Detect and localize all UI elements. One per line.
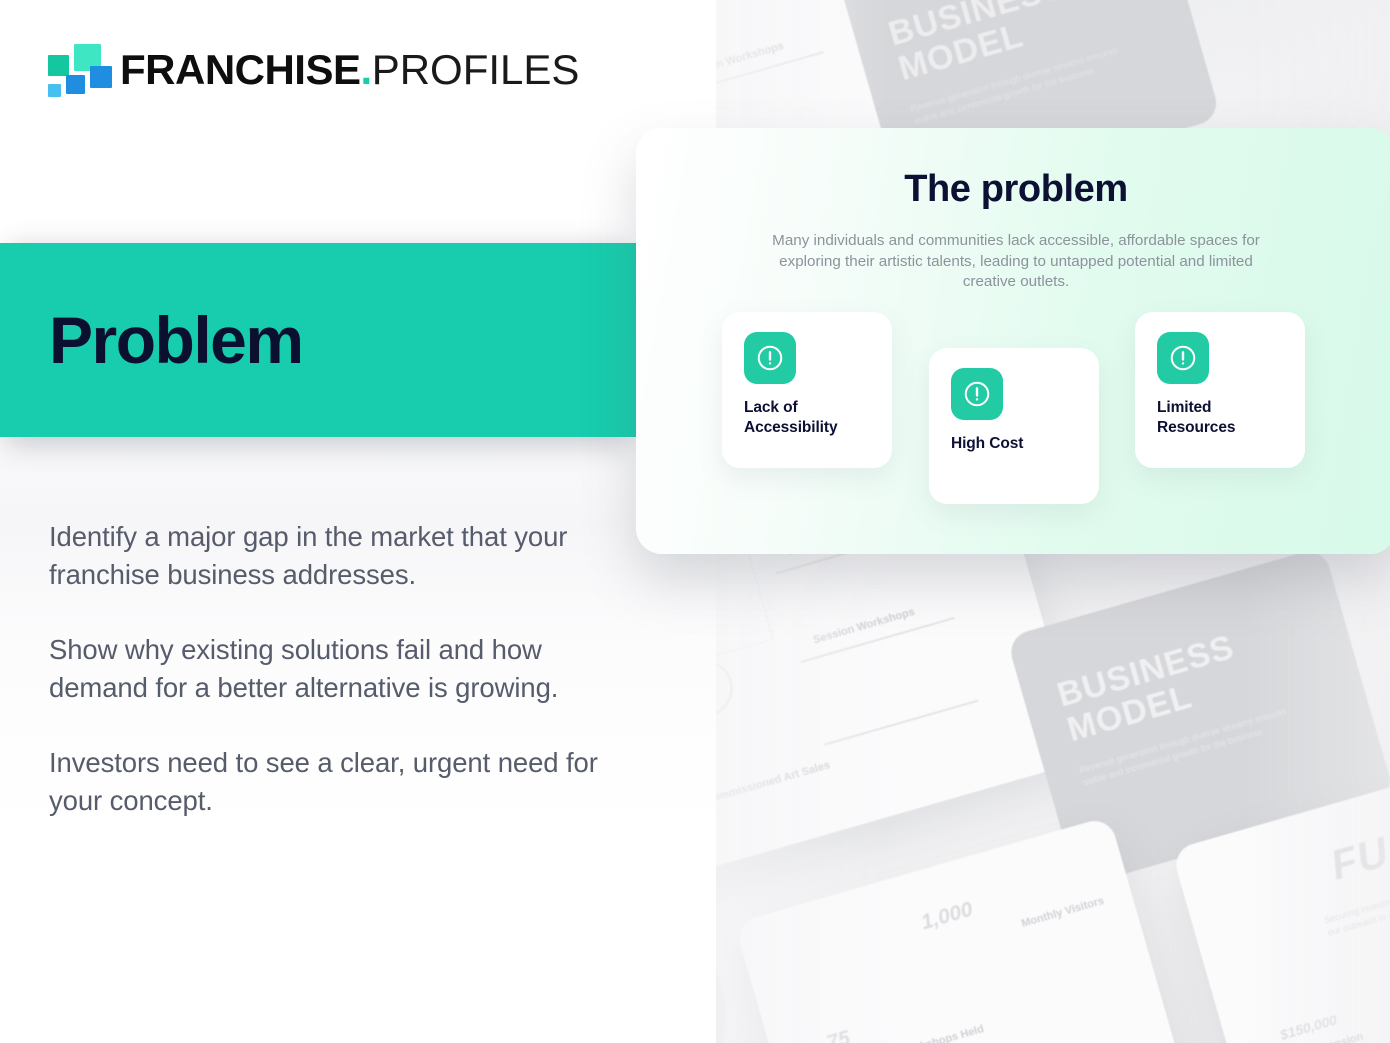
alert-circle-icon (744, 332, 796, 384)
dashed-box (716, 551, 774, 673)
brand-wordmark: FRANCHISE.PROFILES (120, 49, 579, 91)
problem-card[interactable]: High Cost (929, 348, 1099, 504)
deck-label-commissioned: Commissioned Art Sales (716, 759, 831, 806)
divider-line (824, 700, 978, 746)
divider-line (716, 0, 798, 8)
slide-canvas: Drop-In Fees Session Workshops Commissio… (0, 0, 1390, 1043)
brand-name-bold: FRANCHISE (120, 46, 361, 93)
deck-stat-value-workshops: 75 (824, 1026, 853, 1043)
brand-name-light: PROFILES (372, 46, 580, 93)
body-paragraph-1: Identify a major gap in the market that … (49, 518, 619, 594)
body-paragraph-2: Show why existing solutions fail and how… (49, 631, 619, 707)
problem-card[interactable]: Lack of Accessibility (722, 312, 892, 468)
section-title-band: Problem (0, 243, 636, 437)
body-copy: Identify a major gap in the market that … (49, 518, 619, 820)
logo-squares-icon (46, 44, 102, 96)
page-title: Problem (49, 307, 303, 373)
deck-stat-label-visitors: Monthly Visitors (1020, 895, 1105, 930)
problem-card-title: Limited Resources (1157, 398, 1283, 438)
deck-fund-value-space: $150,000 (1278, 1011, 1339, 1042)
problem-preview-panel: The problem Many individuals and communi… (636, 128, 1390, 554)
problem-cards: Lack of Accessibility High Cost (636, 128, 1390, 554)
brand-logo[interactable]: FRANCHISE.PROFILES (46, 44, 579, 96)
alert-circle-icon (1157, 332, 1209, 384)
deck-label-session: Session Workshops (716, 40, 785, 80)
body-paragraph-3: Investors need to see a clear, urgent ne… (49, 744, 619, 820)
problem-card[interactable]: Limited Resources (1135, 312, 1305, 468)
brand-name-dot: . (361, 46, 372, 93)
alert-circle-icon (951, 368, 1003, 420)
problem-card-title: High Cost (951, 434, 1077, 454)
deck-label-session: Session Workshops (812, 606, 916, 646)
deck-stat-value-visitors: 1,000 (918, 898, 975, 936)
currency-circle-icon (716, 654, 739, 723)
deck-stat-label-workshops: Workshops Held (899, 1023, 986, 1043)
left-content-pane: FRANCHISE.PROFILES Identify a major gap … (0, 0, 716, 1043)
problem-card-title: Lack of Accessibility (744, 398, 870, 438)
